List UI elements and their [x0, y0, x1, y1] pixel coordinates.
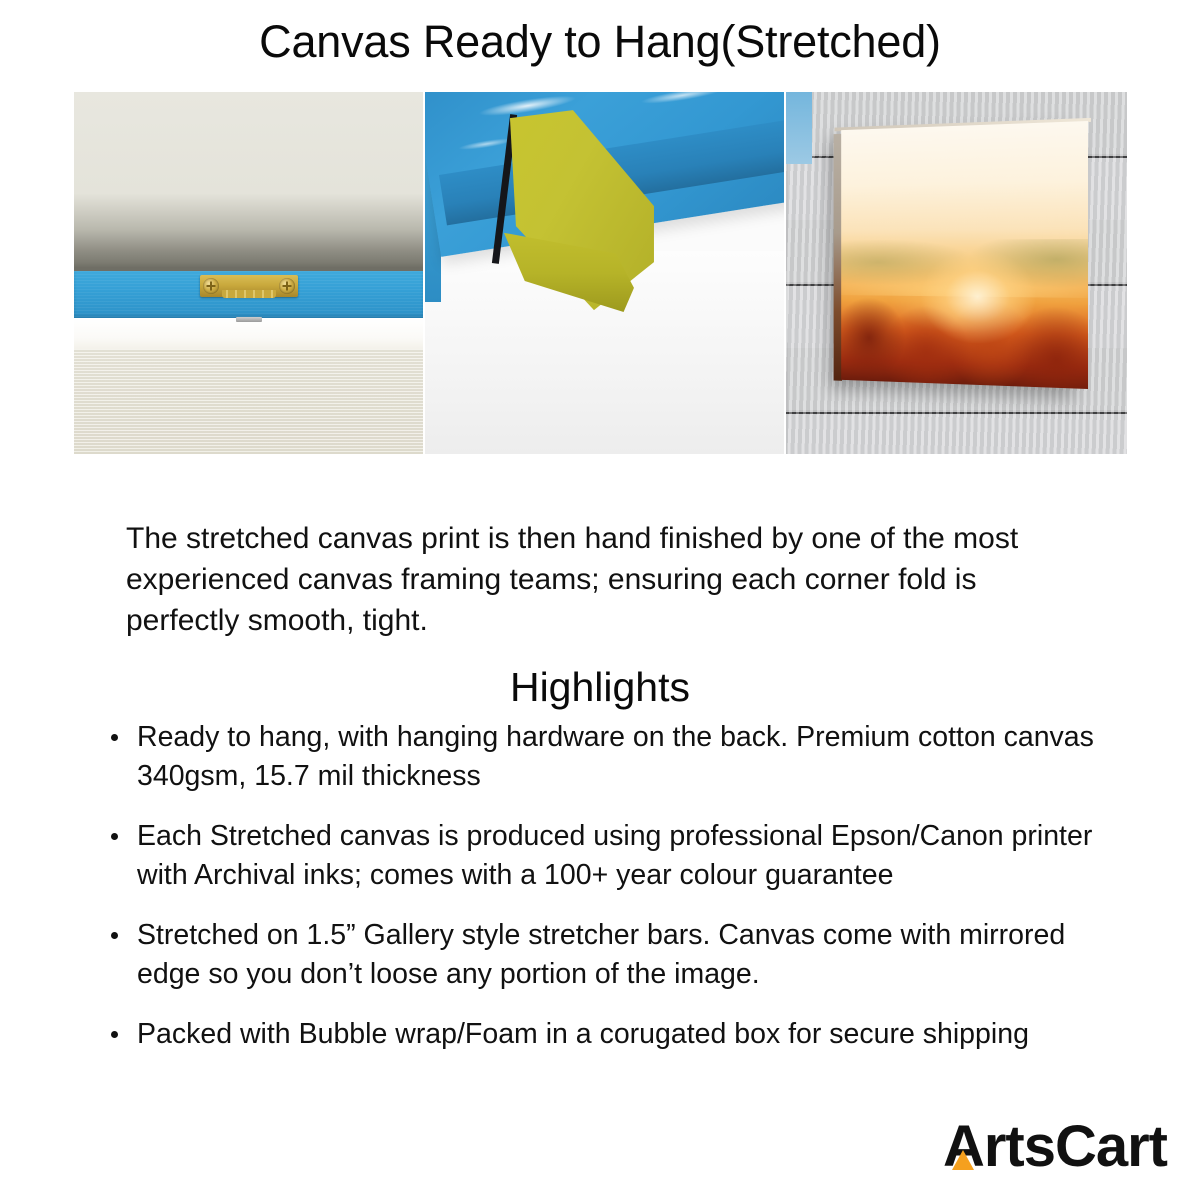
- screw-right-icon: [279, 278, 295, 294]
- bullet-dot-icon: [111, 734, 118, 741]
- gallery-image-hung-canvas[interactable]: [786, 92, 1127, 454]
- brand-logo-letter-a: A: [943, 1116, 984, 1178]
- adjacent-canvas-sliver: [786, 92, 812, 164]
- canvas-white-band: [74, 318, 423, 351]
- sawtooth-teeth: [222, 290, 276, 298]
- gallery-image-corner-fold[interactable]: [425, 92, 784, 454]
- lead-paragraph: The stretched canvas print is then hand …: [126, 518, 1078, 641]
- highlight-item: Packed with Bubble wrap/Foam in a coruga…: [106, 1015, 1116, 1054]
- highlight-text: Ready to hang, with hanging hardware on …: [137, 721, 1094, 792]
- highlight-text: Stretched on 1.5” Gallery style stretche…: [137, 919, 1065, 990]
- bullet-dot-icon: [111, 932, 118, 939]
- highlight-text: Packed with Bubble wrap/Foam in a coruga…: [137, 1018, 1029, 1050]
- page-title: Canvas Ready to Hang(Stretched): [0, 14, 1200, 70]
- hanger-clip: [236, 317, 262, 322]
- highlight-text: Each Stretched canvas is produced using …: [137, 820, 1092, 891]
- gallery-image-hardware[interactable]: [74, 92, 423, 454]
- bullet-dot-icon: [111, 833, 118, 840]
- highlights-heading: Highlights: [0, 662, 1200, 712]
- canvas-cotton-face: [74, 349, 423, 454]
- highlight-item: Stretched on 1.5” Gallery style stretche…: [106, 916, 1116, 994]
- sawtooth-hanger-icon: [200, 275, 298, 297]
- sunset-landscape-artwork: [841, 121, 1088, 389]
- bullet-dot-icon: [111, 1031, 118, 1038]
- orange-triangle-icon: [952, 1150, 974, 1170]
- screw-left-icon: [203, 278, 219, 294]
- brand-logo[interactable]: A rtsCart: [943, 1116, 1167, 1178]
- brand-logo-rest-text: rtsCart: [984, 1116, 1167, 1178]
- highlights-list: Ready to hang, with hanging hardware on …: [106, 718, 1116, 1075]
- highlight-item: Each Stretched canvas is produced using …: [106, 817, 1116, 895]
- highlight-item: Ready to hang, with hanging hardware on …: [106, 718, 1116, 796]
- hung-canvas-frame: [841, 121, 1088, 389]
- product-image-gallery: [74, 92, 1127, 454]
